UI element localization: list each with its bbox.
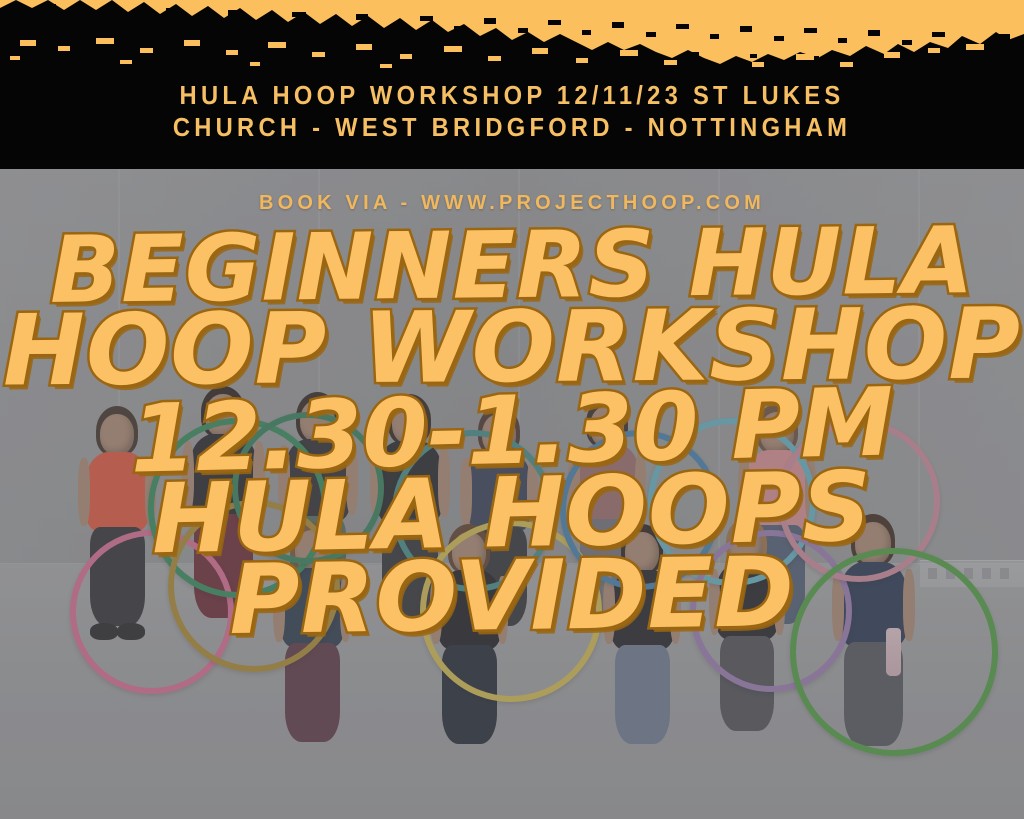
poster: HULA HOOP WORKSHOP 12/11/23 ST LUKES CHU… — [0, 0, 1024, 819]
banner-line-2: CHURCH - WEST BRIDGFORD - NOTTINGHAM — [36, 112, 988, 144]
headline-block: BEGINNERS HULA HOOP WORKSHOP 12.30-1.30 … — [0, 224, 1024, 640]
banner-text-block: HULA HOOP WORKSHOP 12/11/23 ST LUKES CHU… — [0, 80, 1024, 144]
banner-line-1: HULA HOOP WORKSHOP 12/11/23 ST LUKES — [36, 80, 988, 112]
headline-line-5: PROVIDED — [0, 544, 1024, 647]
top-banner: HULA HOOP WORKSHOP 12/11/23 ST LUKES CHU… — [0, 0, 1024, 169]
